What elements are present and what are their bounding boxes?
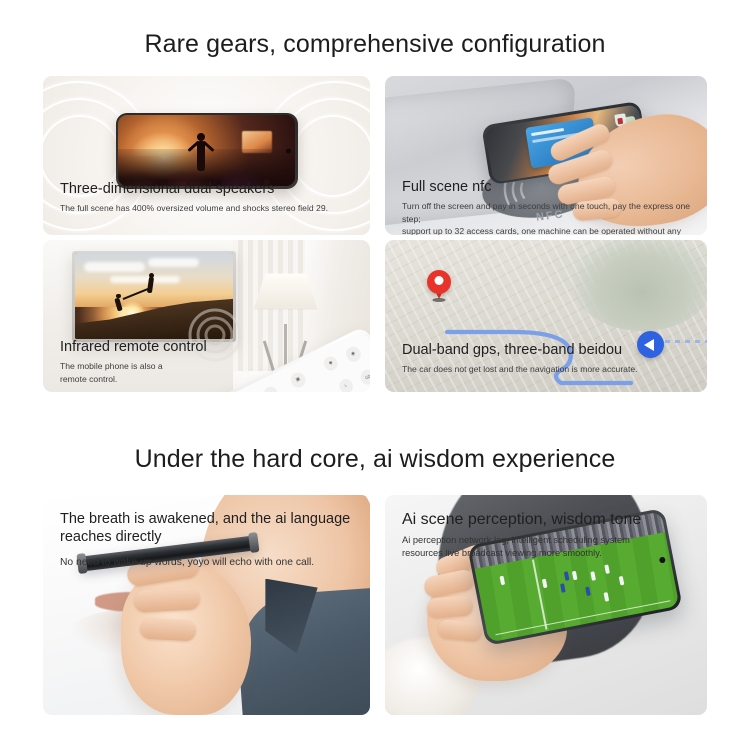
card-title: Ai scene perception, wisdom tone [402,510,641,530]
card-title: Three-dimensional dual speakers [60,180,328,198]
card-infrared-remote-control[interactable]: ■ ▣ ✱ ◉ Mo:/T ☰ ♭ Gb Infrared remote con… [43,240,370,392]
voice-copy: The breath is awakened, and the ai langu… [60,510,350,571]
card-title: Full scene nfc [402,178,707,196]
card-full-scene-nfc[interactable]: NFC ◕ ■ ▬ Full scene nfc Turn off the sc… [385,76,707,235]
speakers-copy: Three-dimensional dual speakers The full… [60,180,328,215]
section-title-rare-gears: Rare gears, comprehensive configuration [0,30,750,59]
navigation-arrow-icon[interactable] [637,331,664,358]
feature-page: Rare gears, comprehensive configuration [0,0,750,750]
hand [121,565,251,715]
card-subtitle: The full scene has 400% oversized volume… [60,202,328,214]
card-subtitle: The car does not get lost and the naviga… [402,363,638,375]
card-title: Dual-band gps, three-band beidou [402,341,638,359]
nfc-copy: Full scene nfc Turn off the screen and p… [402,178,707,235]
card-title: Infrared remote control [60,338,207,356]
card-subtitle: No need to wake up words, yoyo will echo… [60,556,350,571]
camera-punch-hole-icon [286,148,291,153]
card-subtitle: Turn off the screen and pay in seconds w… [402,200,707,235]
card-breath-awakened-ai-language[interactable]: The breath is awakened, and the ai langu… [43,495,370,715]
map-pin-icon [427,270,451,302]
card-subtitle: Ai perception network lag, intelligent s… [402,534,641,561]
gps-copy: Dual-band gps, three-band beidou The car… [402,341,638,376]
route-dashes [665,340,707,343]
card-subtitle: The mobile phone is also a remote contro… [60,360,207,385]
ai-scene-copy: Ai scene perception, wisdom tone Ai perc… [402,510,641,561]
card-title: The breath is awakened, and the ai langu… [60,510,350,546]
infrared-copy: Infrared remote control The mobile phone… [60,338,207,385]
card-ai-scene-perception[interactable]: Ai scene perception, wisdom tone Ai perc… [385,495,707,715]
section-title-hard-core-ai: Under the hard core, ai wisdom experienc… [0,445,750,474]
card-three-dimensional-dual-speakers[interactable]: Three-dimensional dual speakers The full… [43,76,370,235]
phone-landscape-concert [116,113,298,189]
card-dual-band-gps[interactable]: Dual-band gps, three-band beidou The car… [385,240,707,392]
